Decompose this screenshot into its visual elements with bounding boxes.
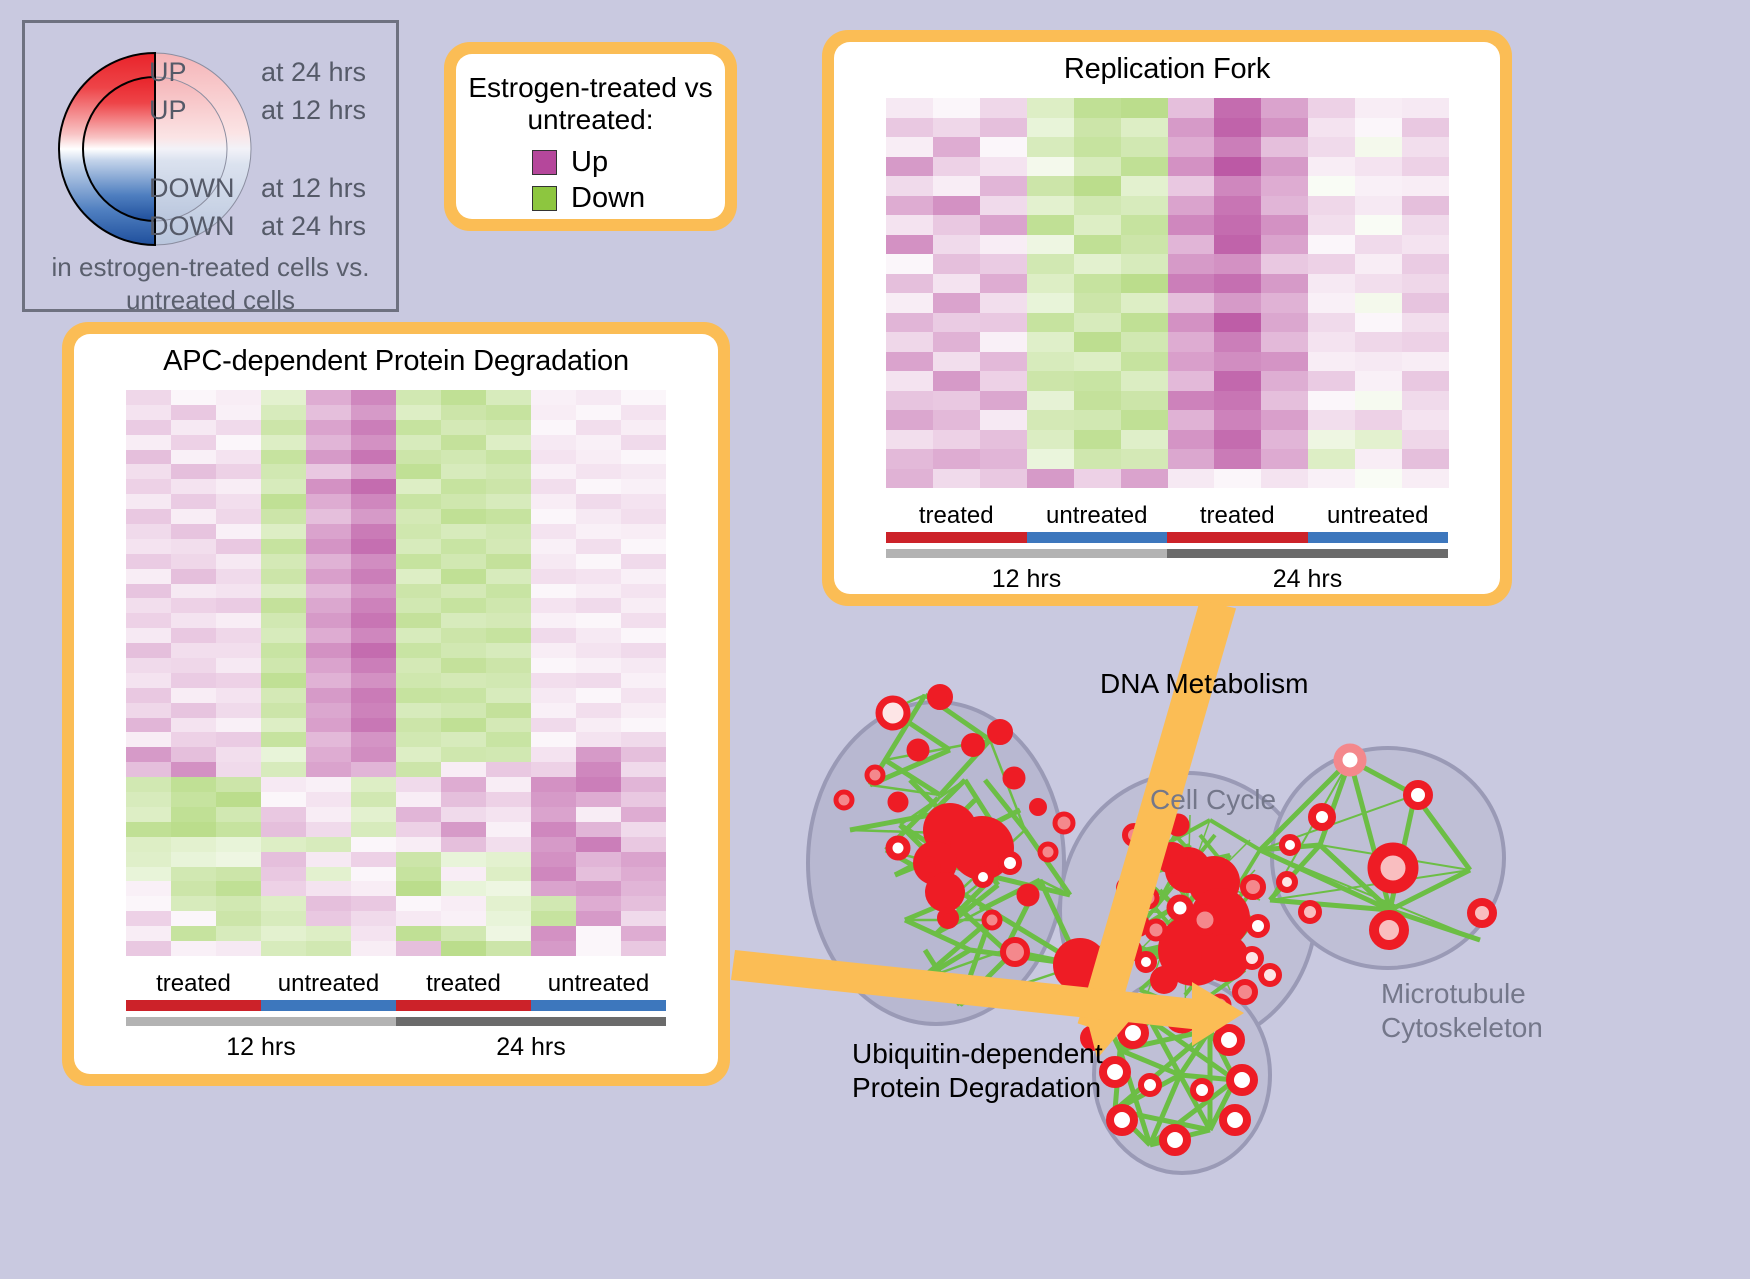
- heatmap-cell: [576, 926, 621, 941]
- heatmap-cell: [531, 732, 576, 747]
- heatmap-cell: [1168, 196, 1215, 216]
- heatmap-cell: [306, 852, 351, 867]
- heatmap-cell: [441, 435, 486, 450]
- heatmap-cell: [216, 777, 261, 792]
- heatmap-cell: [351, 643, 396, 658]
- heatmap-cell: [531, 673, 576, 688]
- heatmap-cell: [216, 494, 261, 509]
- heatmap-cell: [396, 673, 441, 688]
- heatmap-cell: [576, 747, 621, 762]
- treatment-bar-segment: [126, 1000, 261, 1011]
- heatmap-cell: [1355, 254, 1402, 274]
- heatmap-cell: [980, 313, 1027, 333]
- heatmap-cell: [351, 435, 396, 450]
- heatmap-cell: [306, 450, 351, 465]
- updown-legend-title: Estrogen-treated vs untreated:: [456, 54, 725, 136]
- replication-fork-title: Replication Fork: [834, 42, 1500, 86]
- heatmap-cell: [1074, 215, 1121, 235]
- heatmap-cell: [261, 837, 306, 852]
- apc-degradation-treatment-bar: [126, 1000, 666, 1011]
- heatmap-cell: [306, 777, 351, 792]
- heatmap-cell: [306, 732, 351, 747]
- heatmap-cell: [126, 792, 171, 807]
- heatmap-cell: [1402, 176, 1449, 196]
- heatmap-cell: [531, 852, 576, 867]
- heatmap-cell: [1121, 352, 1168, 372]
- heatmap-cell: [261, 718, 306, 733]
- heatmap-cell: [1027, 410, 1074, 430]
- heatmap-cell: [1261, 430, 1308, 450]
- heatmap-cell: [261, 852, 306, 867]
- heatmap-cell: [1168, 293, 1215, 313]
- heatmap-cell: [216, 762, 261, 777]
- heatmap-cell: [261, 450, 306, 465]
- heatmap-cell: [1121, 430, 1168, 450]
- heatmap-cell: [486, 494, 531, 509]
- heatmap-cell: [351, 509, 396, 524]
- heatmap-cell: [1402, 352, 1449, 372]
- heatmap-cell: [1168, 215, 1215, 235]
- heatmap-cell: [1308, 274, 1355, 294]
- treatment-bar-segment: [886, 532, 1027, 543]
- heatmap-cell: [486, 628, 531, 643]
- heatmap-cell: [1027, 449, 1074, 469]
- heatmap-cell: [1261, 215, 1308, 235]
- heatmap-cell: [1168, 410, 1215, 430]
- heatmap-cell: [621, 837, 666, 852]
- heatmap-cell: [171, 881, 216, 896]
- heatmap-cell: [216, 450, 261, 465]
- heatmap-cell: [441, 777, 486, 792]
- heatmap-cell: [126, 435, 171, 450]
- heatmap-cell: [1308, 196, 1355, 216]
- heatmap-cell: [621, 807, 666, 822]
- heatmap-cell: [1308, 137, 1355, 157]
- heatmap-cell: [576, 777, 621, 792]
- heatmap-cell: [1261, 449, 1308, 469]
- heatmap-cell: [1121, 137, 1168, 157]
- heatmap-cell: [126, 688, 171, 703]
- heatmap-cell: [126, 703, 171, 718]
- heatmap-cell: [261, 867, 306, 882]
- heatmap-cell: [351, 539, 396, 554]
- heatmap-cell: [1402, 410, 1449, 430]
- heatmap-cell: [933, 137, 980, 157]
- heatmap-cell: [1355, 449, 1402, 469]
- heatmap-cell: [1214, 332, 1261, 352]
- heatmap-cell: [396, 703, 441, 718]
- heatmap-cell: [171, 807, 216, 822]
- heatmap-cell: [261, 732, 306, 747]
- heatmap-cell: [351, 494, 396, 509]
- heatmap-cell: [261, 464, 306, 479]
- heatmap-cell: [306, 703, 351, 718]
- heatmap-cell: [396, 867, 441, 882]
- heatmap-cell: [621, 554, 666, 569]
- heatmap-cell: [1168, 313, 1215, 333]
- heatmap-cell: [396, 450, 441, 465]
- heatmap-cell: [576, 807, 621, 822]
- heatmap-cell: [171, 896, 216, 911]
- heatmap-cell: [126, 807, 171, 822]
- heatmap-cell: [1121, 196, 1168, 216]
- heatmap-cell: [1402, 137, 1449, 157]
- heatmap-cell: [886, 118, 933, 138]
- heatmap-cell: [261, 673, 306, 688]
- heatmap-cell: [306, 539, 351, 554]
- heatmap-cell: [396, 464, 441, 479]
- heatmap-cell: [486, 852, 531, 867]
- replication-fork-treatment-bar: [886, 532, 1448, 543]
- heatmap-cell: [1121, 313, 1168, 333]
- heatmap-cell: [1308, 371, 1355, 391]
- heatmap-cell: [1308, 293, 1355, 313]
- heatmap-cell: [171, 941, 216, 956]
- heatmap-cell: [216, 643, 261, 658]
- heatmap-cell: [1261, 274, 1308, 294]
- heatmap-cell: [171, 479, 216, 494]
- heatmap-cell: [441, 673, 486, 688]
- heatmap-cell: [126, 479, 171, 494]
- heatmap-cell: [171, 643, 216, 658]
- group-label: treated: [396, 970, 531, 998]
- heatmap-cell: [306, 718, 351, 733]
- heatmap-cell: [261, 405, 306, 420]
- heatmap-cell: [126, 494, 171, 509]
- heatmap-cell: [1402, 215, 1449, 235]
- heatmap-cell: [621, 941, 666, 956]
- heatmap-cell: [621, 569, 666, 584]
- heatmap-cell: [216, 539, 261, 554]
- heatmap-cell: [531, 479, 576, 494]
- heatmap-cell: [933, 254, 980, 274]
- heatmap-cell: [1214, 118, 1261, 138]
- heatmap-cell: [261, 598, 306, 613]
- heatmap-cell: [1261, 313, 1308, 333]
- heatmap-cell: [126, 569, 171, 584]
- heatmap-cell: [216, 792, 261, 807]
- heatmap-cell: [1121, 176, 1168, 196]
- heatmap-cell: [576, 718, 621, 733]
- heatmap-cell: [1214, 410, 1261, 430]
- heatmap-cell: [1074, 235, 1121, 255]
- heatmap-cell: [261, 390, 306, 405]
- heatmap-cell: [1214, 196, 1261, 216]
- heatmap-cell: [531, 569, 576, 584]
- heatmap-cell: [216, 509, 261, 524]
- heatmap-cell: [171, 747, 216, 762]
- heatmap-cell: [306, 628, 351, 643]
- heatmap-cell: [531, 718, 576, 733]
- heatmap-cell: [1355, 430, 1402, 450]
- time-label: 24 hrs: [396, 1033, 666, 1062]
- heatmap-cell: [980, 391, 1027, 411]
- heatmap-cell: [576, 867, 621, 882]
- heatmap-cell: [576, 896, 621, 911]
- heatmap-cell: [126, 524, 171, 539]
- heatmap-cell: [1308, 391, 1355, 411]
- colorwheel-row-key: UP: [149, 59, 261, 86]
- heatmap-cell: [1214, 157, 1261, 177]
- legend-item-up: Up: [532, 144, 725, 180]
- heatmap-cell: [621, 777, 666, 792]
- heatmap-cell: [216, 941, 261, 956]
- heatmap-cell: [441, 911, 486, 926]
- heatmap-cell: [441, 822, 486, 837]
- heatmap-cell: [576, 405, 621, 420]
- heatmap-cell: [886, 157, 933, 177]
- heatmap-cell: [261, 539, 306, 554]
- heatmap-cell: [531, 405, 576, 420]
- heatmap-cell: [486, 792, 531, 807]
- heatmap-cell: [351, 881, 396, 896]
- heatmap-cell: [1074, 371, 1121, 391]
- heatmap-cell: [306, 941, 351, 956]
- heatmap-cell: [1168, 274, 1215, 294]
- heatmap-cell: [306, 494, 351, 509]
- heatmap-cell: [171, 703, 216, 718]
- heatmap-cell: [621, 464, 666, 479]
- heatmap-cell: [351, 822, 396, 837]
- cluster-label-cell-cycle: Cell Cycle: [1150, 783, 1276, 817]
- heatmap-cell: [980, 157, 1027, 177]
- heatmap-cell: [1027, 157, 1074, 177]
- heatmap-cell: [1355, 118, 1402, 138]
- heatmap-cell: [396, 569, 441, 584]
- heatmap-cell: [396, 524, 441, 539]
- heatmap-cell: [886, 98, 933, 118]
- heatmap-cell: [1074, 410, 1121, 430]
- heatmap-cell: [396, 435, 441, 450]
- heatmap-cell: [531, 926, 576, 941]
- heatmap-cell: [1402, 274, 1449, 294]
- heatmap-cell: [1027, 352, 1074, 372]
- heatmap-cell: [531, 703, 576, 718]
- time-bar-segment: [886, 549, 1167, 558]
- heatmap-cell: [886, 215, 933, 235]
- time-label: 12 hrs: [126, 1033, 396, 1062]
- colorwheel-row: DOWN at 12 hrs: [149, 169, 399, 207]
- heatmap-cell: [261, 881, 306, 896]
- heatmap-cell: [126, 852, 171, 867]
- heatmap-cell: [576, 479, 621, 494]
- heatmap-cell: [1121, 157, 1168, 177]
- heatmap-cell: [1214, 137, 1261, 157]
- heatmap-cell: [486, 807, 531, 822]
- heatmap-cell: [1074, 293, 1121, 313]
- heatmap-cell: [261, 777, 306, 792]
- heatmap-cell: [486, 658, 531, 673]
- heatmap-cell: [1121, 410, 1168, 430]
- heatmap-cell: [933, 215, 980, 235]
- heatmap-cell: [441, 837, 486, 852]
- heatmap-cell: [1402, 196, 1449, 216]
- heatmap-cell: [126, 673, 171, 688]
- treatment-bar-segment: [1167, 532, 1308, 543]
- heatmap-cell: [306, 598, 351, 613]
- heatmap-cell: [531, 390, 576, 405]
- heatmap-cell: [576, 673, 621, 688]
- heatmap-cell: [306, 509, 351, 524]
- heatmap-cell: [216, 911, 261, 926]
- heatmap-cell: [531, 494, 576, 509]
- heatmap-cell: [216, 569, 261, 584]
- heatmap-cell: [216, 822, 261, 837]
- heatmap-cell: [126, 911, 171, 926]
- heatmap-cell: [1308, 410, 1355, 430]
- heatmap-cell: [1121, 371, 1168, 391]
- heatmap-cell: [531, 822, 576, 837]
- heatmap-cell: [933, 352, 980, 372]
- heatmap-cell: [576, 554, 621, 569]
- heatmap-cell: [1261, 157, 1308, 177]
- heatmap-cell: [216, 837, 261, 852]
- heatmap-cell: [486, 450, 531, 465]
- heatmap-cell: [351, 703, 396, 718]
- heatmap-cell: [1402, 313, 1449, 333]
- heatmap-cell: [1168, 332, 1215, 352]
- treatment-bar-segment: [261, 1000, 396, 1011]
- heatmap-cell: [1355, 176, 1402, 196]
- heatmap-cell: [933, 332, 980, 352]
- heatmap-cell: [486, 613, 531, 628]
- heatmap-cell: [441, 524, 486, 539]
- heatmap-cell: [531, 747, 576, 762]
- heatmap-cell: [216, 807, 261, 822]
- heatmap-cell: [396, 479, 441, 494]
- heatmap-cell: [576, 494, 621, 509]
- heatmap-cell: [486, 598, 531, 613]
- heatmap-cell: [1355, 98, 1402, 118]
- heatmap-cell: [126, 420, 171, 435]
- heatmap-cell: [486, 747, 531, 762]
- heatmap-cell: [486, 673, 531, 688]
- heatmap-cell: [171, 837, 216, 852]
- heatmap-cell: [306, 479, 351, 494]
- heatmap-cell: [261, 822, 306, 837]
- heatmap-cell: [1027, 313, 1074, 333]
- heatmap-cell: [396, 852, 441, 867]
- heatmap-cell: [531, 613, 576, 628]
- heatmap-cell: [886, 449, 933, 469]
- heatmap-cell: [486, 435, 531, 450]
- heatmap-cell: [1308, 157, 1355, 177]
- heatmap-cell: [306, 569, 351, 584]
- heatmap-cell: [621, 539, 666, 554]
- heatmap-cell: [576, 837, 621, 852]
- heatmap-cell: [306, 911, 351, 926]
- heatmap-cell: [126, 509, 171, 524]
- heatmap-cell: [886, 137, 933, 157]
- heatmap-cell: [396, 554, 441, 569]
- heatmap-cell: [171, 464, 216, 479]
- heatmap-cell: [216, 881, 261, 896]
- heatmap-cell: [576, 762, 621, 777]
- heatmap-cell: [261, 613, 306, 628]
- heatmap-cell: [396, 598, 441, 613]
- heatmap-cell: [621, 896, 666, 911]
- heatmap-cell: [441, 732, 486, 747]
- heatmap-cell: [531, 584, 576, 599]
- heatmap-cell: [621, 822, 666, 837]
- heatmap-cell: [1308, 176, 1355, 196]
- heatmap-cell: [216, 420, 261, 435]
- apc-degradation-heatmap: [126, 390, 666, 956]
- heatmap-cell: [1027, 293, 1074, 313]
- heatmap-cell: [441, 926, 486, 941]
- heatmap-cell: [441, 941, 486, 956]
- heatmap-cell: [980, 430, 1027, 450]
- heatmap-cell: [351, 658, 396, 673]
- heatmap-cell: [886, 254, 933, 274]
- heatmap-cell: [261, 643, 306, 658]
- apc-degradation-panel: APC-dependent Protein Degradation treate…: [62, 322, 730, 1086]
- colorwheel-row-key: DOWN: [149, 175, 261, 202]
- heatmap-cell: [576, 628, 621, 643]
- heatmap-cell: [126, 837, 171, 852]
- heatmap-cell: [126, 598, 171, 613]
- heatmap-cell: [216, 524, 261, 539]
- heatmap-cell: [351, 837, 396, 852]
- heatmap-cell: [216, 479, 261, 494]
- heatmap-cell: [441, 420, 486, 435]
- heatmap-cell: [351, 390, 396, 405]
- heatmap-cell: [1214, 430, 1261, 450]
- heatmap-cell: [1355, 274, 1402, 294]
- heatmap-cell: [441, 852, 486, 867]
- heatmap-cell: [531, 598, 576, 613]
- heatmap-cell: [576, 390, 621, 405]
- heatmap-cell: [1308, 215, 1355, 235]
- heatmap-cell: [396, 613, 441, 628]
- heatmap-cell: [576, 509, 621, 524]
- heatmap-cell: [886, 469, 933, 489]
- heatmap-cell: [306, 822, 351, 837]
- heatmap-cell: [171, 822, 216, 837]
- heatmap-cell: [933, 391, 980, 411]
- heatmap-cell: [171, 867, 216, 882]
- heatmap-cell: [441, 613, 486, 628]
- time-label: 24 hrs: [1167, 565, 1448, 594]
- heatmap-cell: [1261, 410, 1308, 430]
- heatmap-cell: [576, 450, 621, 465]
- heatmap-cell: [980, 254, 1027, 274]
- heatmap-cell: [216, 852, 261, 867]
- heatmap-cell: [441, 867, 486, 882]
- heatmap-cell: [126, 613, 171, 628]
- colorwheel-row-value: at 24 hrs: [261, 213, 366, 240]
- heatmap-cell: [576, 420, 621, 435]
- heatmap-cell: [531, 807, 576, 822]
- heatmap-cell: [441, 405, 486, 420]
- heatmap-cell: [980, 176, 1027, 196]
- apc-degradation-time-bar: [126, 1017, 666, 1026]
- heatmap-cell: [621, 479, 666, 494]
- colorwheel-row-list: UP at 24 hrs UP at 12 hrs DOWN at 12 hrs…: [149, 53, 399, 245]
- heatmap-cell: [933, 118, 980, 138]
- heatmap-cell: [396, 896, 441, 911]
- heatmap-cell: [351, 584, 396, 599]
- heatmap-cell: [933, 274, 980, 294]
- heatmap-cell: [396, 762, 441, 777]
- heatmap-cell: [441, 464, 486, 479]
- heatmap-cell: [126, 658, 171, 673]
- colorwheel-footer-text: in estrogen-treated cells vs. untreated …: [25, 251, 396, 318]
- heatmap-cell: [396, 792, 441, 807]
- colorwheel-row: UP at 24 hrs: [149, 53, 399, 91]
- heatmap-cell: [486, 405, 531, 420]
- heatmap-cell: [441, 539, 486, 554]
